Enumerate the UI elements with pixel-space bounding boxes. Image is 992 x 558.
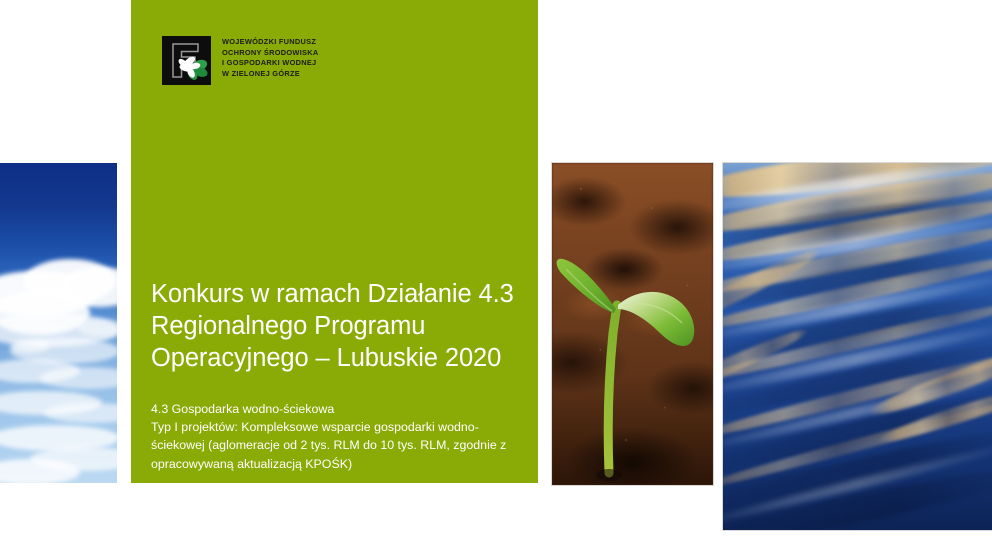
slide-title: Konkurs w ramach Działanie 4.3 Regionaln… [151,278,531,374]
cloud-shape [0,459,80,483]
title-line-1: Konkurs w ramach Działanie 4.3 [151,278,531,310]
organization-logo: WOJEWÓDZKI FUNDUSZ OCHRONY ŚRODOWISKA I … [162,36,318,85]
org-name-line-2: OCHRONY ŚRODOWISKA [222,48,318,59]
subtitle-line-4: opracowywaną aktualizacją KPOŚK) [151,455,526,473]
seedling-shape [552,163,713,485]
title-line-2: Regionalnego Programu [151,310,531,342]
water-surface-photo [723,163,992,530]
title-line-3: Operacyjnego – Lubuskie 2020 [151,342,531,374]
seedling-in-soil-photo [552,163,713,485]
organization-name: WOJEWÓDZKI FUNDUSZ OCHRONY ŚRODOWISKA I … [222,36,318,79]
green-content-panel: WOJEWÓDZKI FUNDUSZ OCHRONY ŚRODOWISKA I … [131,0,538,483]
subtitle-line-3: ściekowej (aglomeracje od 2 tys. RLM do … [151,436,526,454]
wfosigw-logo-mark [162,36,211,85]
blue-sky-with-clouds-photo [0,163,117,483]
slide-subtitle: 4.3 Gospodarka wodno-ściekowa Typ I proj… [151,400,526,473]
cloud-shape [10,339,50,353]
org-name-line-3: I GOSPODARKI WODNEJ [222,58,318,69]
subtitle-line-2: Typ I projektów: Kompleksowe wsparcie go… [151,418,526,436]
org-name-line-1: WOJEWÓDZKI FUNDUSZ [222,37,318,48]
org-name-line-4: W ZIELONEJ GÓRZE [222,69,318,80]
slide-canvas: WOJEWÓDZKI FUNDUSZ OCHRONY ŚRODOWISKA I … [0,0,992,558]
subtitle-line-1: 4.3 Gospodarka wodno-ściekowa [151,400,526,418]
